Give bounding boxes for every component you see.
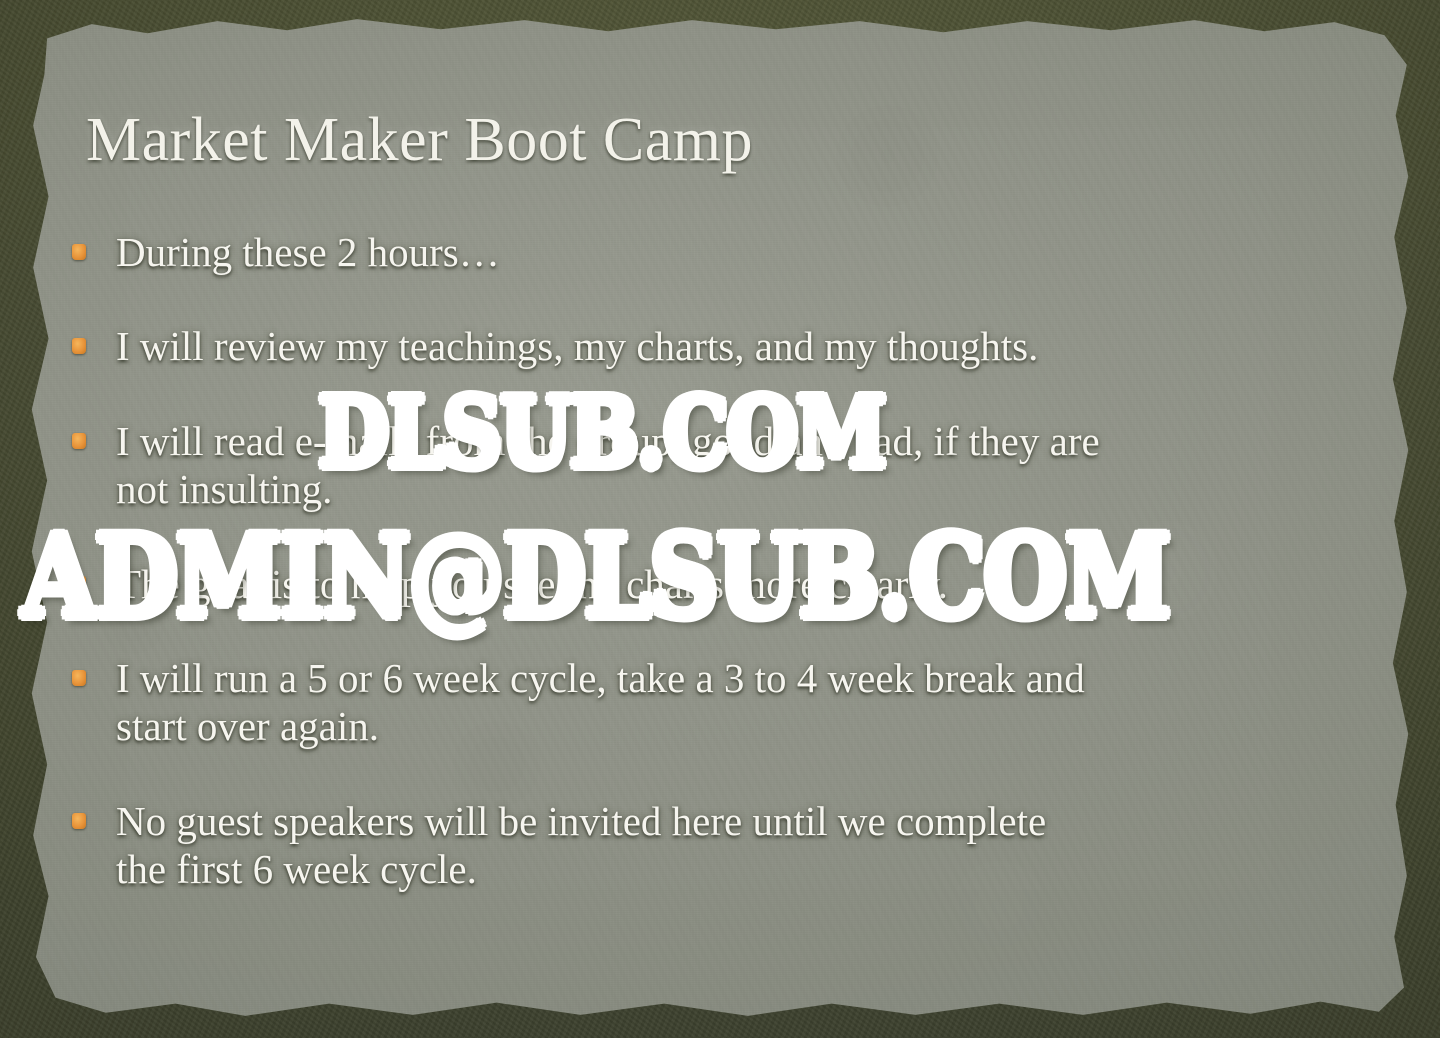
diamond-bullet-icon <box>72 433 86 449</box>
bullet-line-primary: No guest speakers will be invited here u… <box>116 798 1046 844</box>
diamond-bullet-icon <box>72 813 86 829</box>
presentation-slide: Market Maker Boot Camp During these 2 ho… <box>0 0 1440 1038</box>
slide-content: Market Maker Boot Camp During these 2 ho… <box>0 0 1440 1038</box>
bullet-item-text: I will run a 5 or 6 week cycle, take a 3… <box>116 654 1382 751</box>
slide-title: Market Maker Boot Camp <box>86 108 753 173</box>
bullet-line-secondary: start over again. <box>116 702 1382 750</box>
watermark-site: DLSUB.COM <box>318 376 885 489</box>
bullet-line-primary: I will review my teachings, my charts, a… <box>116 323 1038 369</box>
bullet-item-2: I will review my teachings, my charts, a… <box>72 322 1382 370</box>
bullet-item-5: I will run a 5 or 6 week cycle, take a 3… <box>72 654 1382 751</box>
diamond-bullet-icon <box>72 244 86 260</box>
bullet-item-text: No guest speakers will be invited here u… <box>116 797 1382 894</box>
bullet-item-text: During these 2 hours… <box>116 228 1382 276</box>
diamond-bullet-icon <box>72 670 86 686</box>
bullet-item-1: During these 2 hours… <box>72 228 1382 276</box>
bullet-line-secondary: the first 6 week cycle. <box>116 845 1382 893</box>
bullet-line-primary: I will run a 5 or 6 week cycle, take a 3… <box>116 655 1085 701</box>
bullet-line-primary: During these 2 hours… <box>116 229 500 275</box>
watermark-email-text: ADMIN@DLSUB.COM <box>22 510 1169 643</box>
diamond-bullet-icon <box>72 338 86 354</box>
bullet-item-6: No guest speakers will be invited here u… <box>72 797 1382 894</box>
watermark-site-text: DLSUB.COM <box>318 376 885 489</box>
bullet-item-text: I will review my teachings, my charts, a… <box>116 322 1382 370</box>
watermark-email: ADMIN@DLSUB.COM <box>22 510 1169 643</box>
